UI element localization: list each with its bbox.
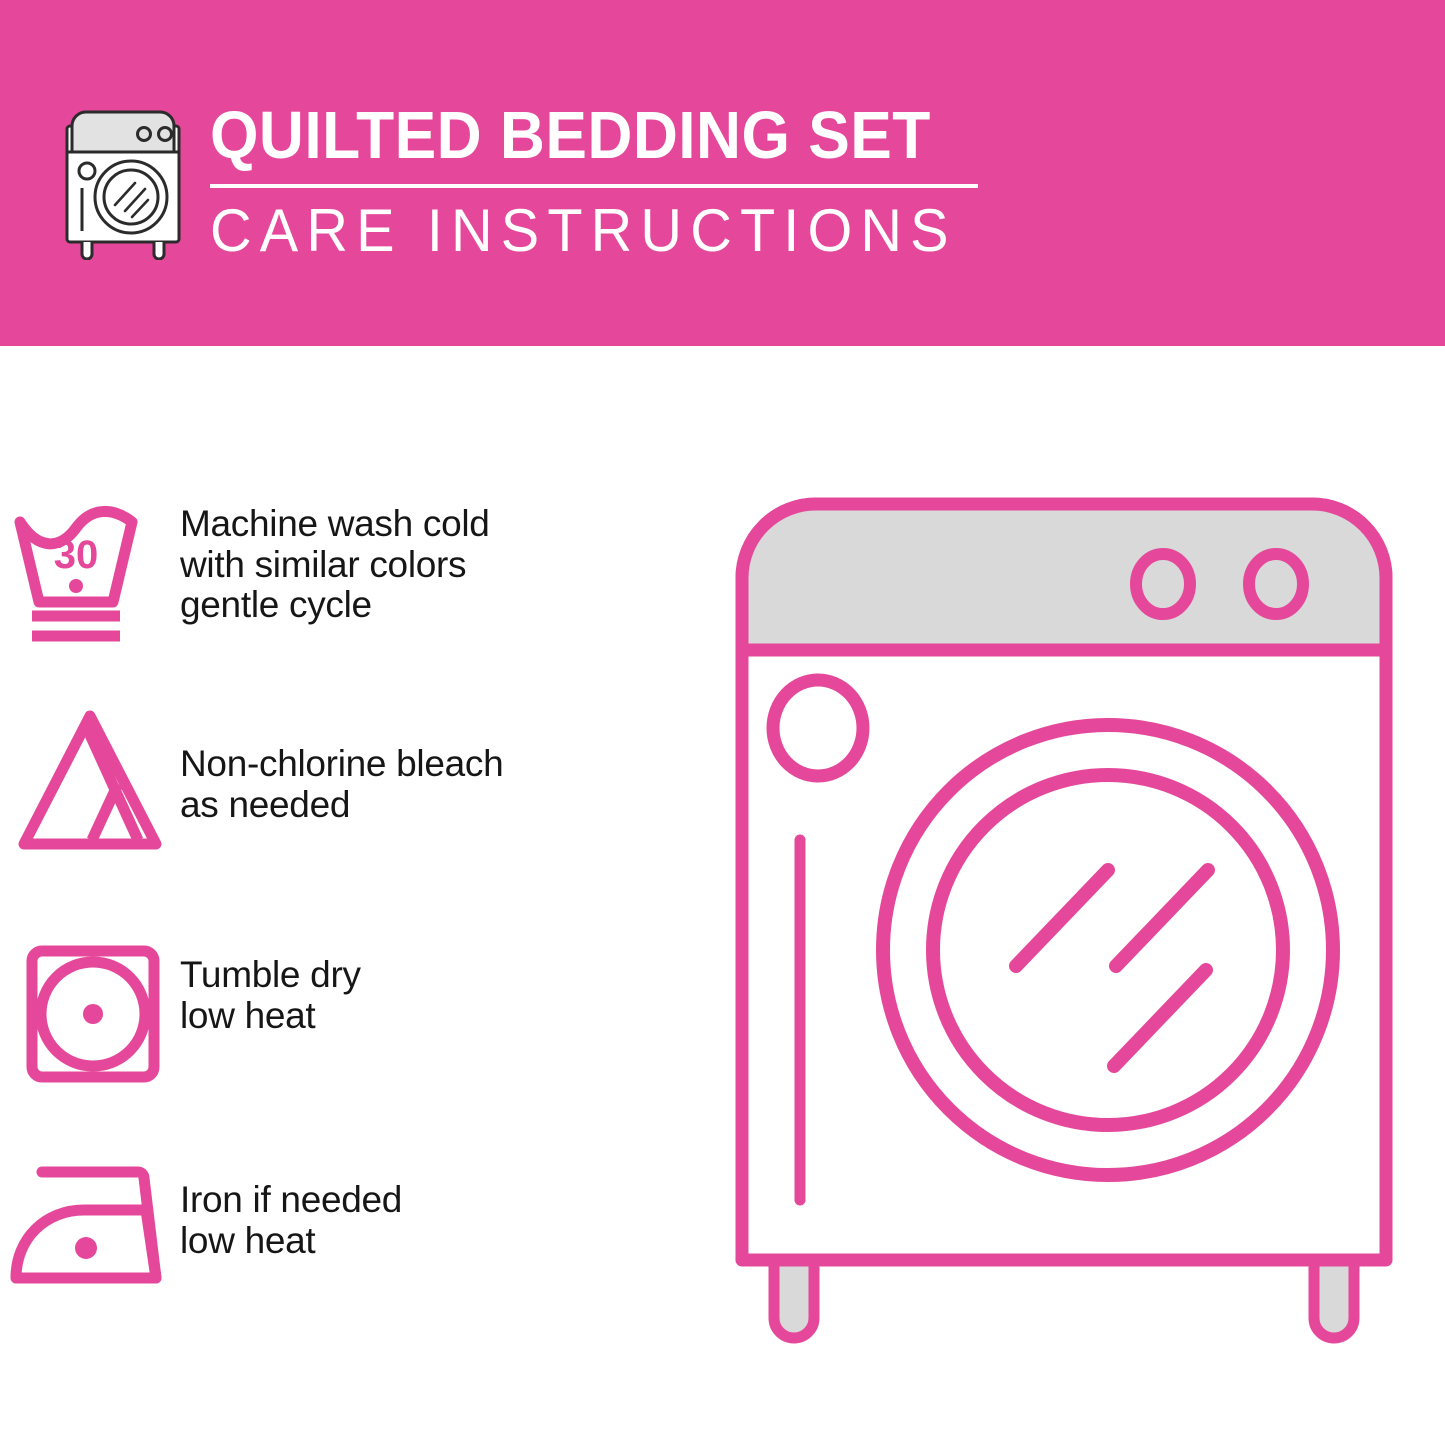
care-text-line: gentle cycle — [180, 585, 490, 626]
care-instruction-row-bleach: Non-chlorine bleach as needed — [0, 700, 700, 856]
care-text-line: Non-chlorine bleach — [180, 744, 503, 785]
header-text-block: QUILTED BEDDING SET CARE INSTRUCTIONS — [210, 100, 1000, 264]
page-subtitle: CARE INSTRUCTIONS — [210, 198, 968, 264]
machine-foot-left — [774, 1256, 814, 1338]
machine-wash-30-gentle-icon: 30 — [10, 506, 170, 654]
care-instruction-text: Tumble dry low heat — [180, 935, 361, 1036]
header-banner: QUILTED BEDDING SET CARE INSTRUCTIONS — [0, 0, 1445, 346]
care-symbol-slot — [0, 1152, 180, 1296]
care-instruction-row-tumble-dry: Tumble dry low heat — [0, 935, 700, 1089]
care-text-line: as needed — [180, 785, 503, 826]
care-instruction-row-machine-wash: 30 Machine wash cold with similar colors… — [0, 502, 700, 654]
washing-machine-illustration — [726, 488, 1402, 1368]
care-symbol-slot — [0, 700, 180, 856]
care-text-line: Iron if needed — [180, 1180, 402, 1221]
iron-low-heat-icon — [6, 1156, 174, 1296]
care-instruction-text: Iron if needed low heat — [180, 1152, 402, 1261]
care-text-line: Machine wash cold — [180, 504, 490, 545]
care-instruction-text: Machine wash cold with similar colors ge… — [180, 502, 490, 626]
care-symbol-slot: 30 — [0, 502, 180, 654]
washing-machine-icon — [58, 98, 188, 260]
care-text-line: Tumble dry — [180, 955, 361, 996]
care-instruction-row-iron: Iron if needed low heat — [0, 1152, 700, 1296]
header-divider — [210, 184, 978, 188]
care-text-line: low heat — [180, 996, 361, 1037]
care-text-line: low heat — [180, 1221, 402, 1262]
care-instruction-text: Non-chlorine bleach as needed — [180, 700, 503, 825]
machine-foot-right — [1314, 1256, 1354, 1338]
care-text-line: with similar colors — [180, 545, 490, 586]
tumble-dry-low-icon — [10, 939, 170, 1089]
non-chlorine-bleach-triangle-icon — [10, 704, 170, 856]
svg-text:30: 30 — [54, 533, 99, 577]
machine-control-panel — [742, 504, 1386, 650]
care-symbol-slot — [0, 935, 180, 1089]
page-title: QUILTED BEDDING SET — [210, 100, 945, 172]
